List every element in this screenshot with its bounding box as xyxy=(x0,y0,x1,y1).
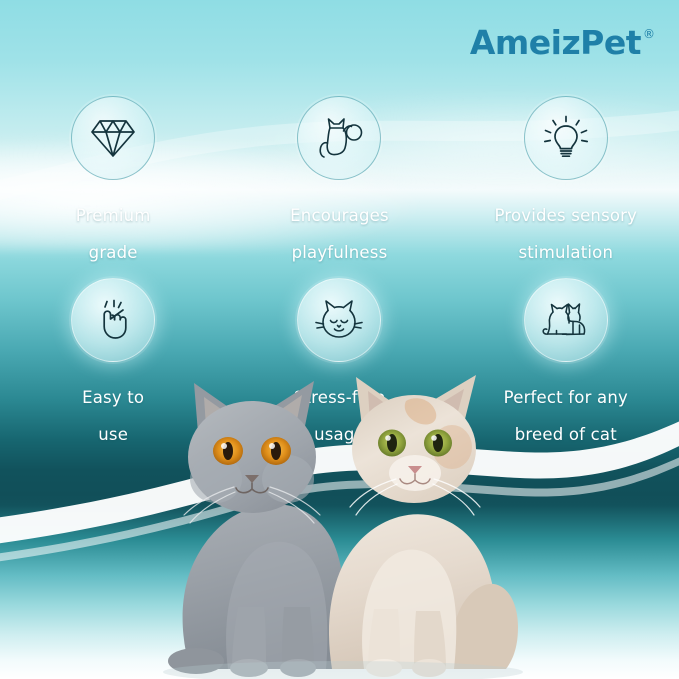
badge-encourages-playfulness xyxy=(297,96,381,180)
lightbulb-icon xyxy=(542,114,590,162)
feature-label-line2: playfulness xyxy=(292,243,388,262)
feature-label-line1: Encourages xyxy=(290,206,389,225)
feature-label-line2: stimulation xyxy=(518,243,613,262)
product-feature-image: AmeizPet ® P xyxy=(0,0,679,679)
grey-british-shorthair-cat xyxy=(168,381,345,677)
feature-encourages-playfulness: Encourages playfulness xyxy=(239,96,439,263)
two-cats-icon xyxy=(539,299,593,341)
cat-playing-ball-icon xyxy=(314,115,364,161)
diamond-icon xyxy=(90,117,136,159)
feature-label-line1: Premium xyxy=(76,206,151,225)
cream-cat-eye-highlight-left xyxy=(385,435,391,441)
badge-perfect-for-any-breed xyxy=(524,278,608,362)
feature-label-premium-grade: Premium grade xyxy=(76,189,151,263)
feature-label-encourages-playfulness: Encourages playfulness xyxy=(290,189,389,263)
brand-logo: AmeizPet ® xyxy=(470,26,655,59)
cream-fawn-cat xyxy=(329,375,518,677)
feature-provides-sensory-stimulation: Provides sensory stimulation xyxy=(466,96,666,263)
badge-easy-to-use xyxy=(71,278,155,362)
grey-cat-eye-highlight-right xyxy=(269,443,275,449)
grey-cat-eye-highlight-left xyxy=(221,443,227,449)
feature-label-line2: grade xyxy=(89,243,138,262)
two-cats-photo xyxy=(118,369,558,679)
feature-premium-grade: Premium grade xyxy=(13,96,213,263)
badge-provides-sensory-stimulation xyxy=(524,96,608,180)
badge-premium-grade xyxy=(71,96,155,180)
cream-cat-eye-highlight-right xyxy=(431,435,437,441)
happy-cat-face-icon xyxy=(312,297,366,343)
feature-label-line1: Provides sensory xyxy=(494,206,637,225)
registered-trademark-icon: ® xyxy=(643,28,655,40)
tapping-hand-icon xyxy=(90,297,136,343)
brand-name: AmeizPet xyxy=(470,26,641,59)
badge-stress-free-usage xyxy=(297,278,381,362)
feature-label-provides-sensory-stimulation: Provides sensory stimulation xyxy=(494,189,637,263)
feature-row-1: Premium grade xyxy=(0,96,679,263)
